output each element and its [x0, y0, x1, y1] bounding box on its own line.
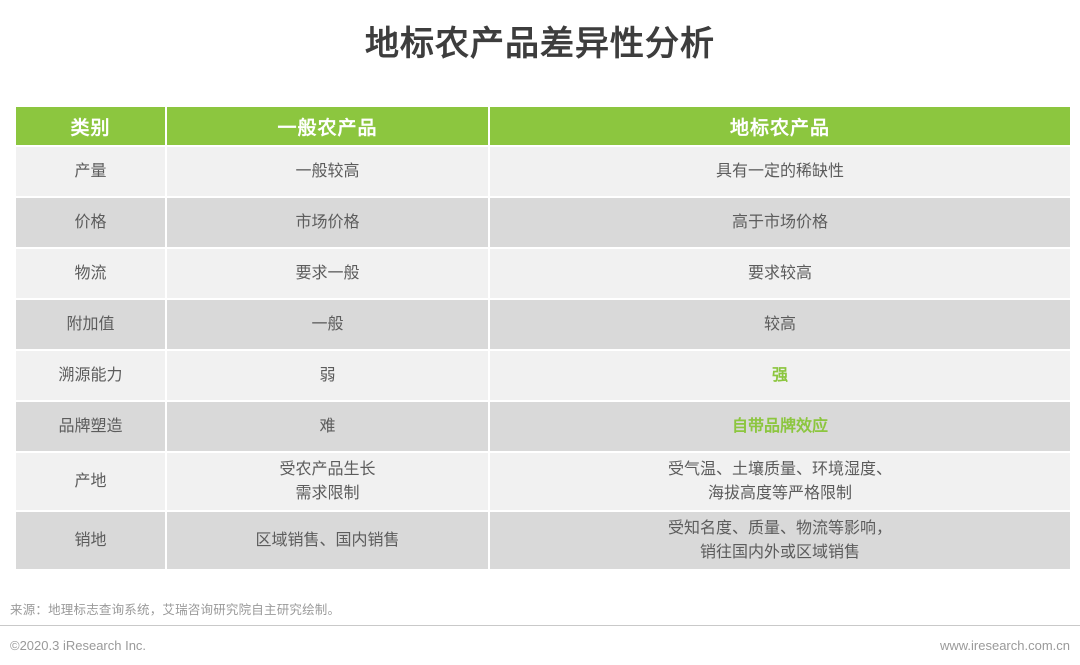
column-header-category: 类别	[16, 107, 165, 145]
table-row: 产地受农产品生长需求限制受气温、土壤质量、环境湿度、海拔高度等严格限制	[16, 453, 1070, 510]
footer-copyright: ©2020.3 iResearch Inc.	[10, 638, 146, 653]
cell-line: 销往国内外或区域销售	[496, 541, 1064, 565]
footer-url: www.iresearch.com.cn	[940, 638, 1070, 653]
table-row: 产量一般较高具有一定的稀缺性	[16, 147, 1070, 196]
cell-line: 要求较高	[496, 262, 1064, 286]
comparison-table: 类别 一般农产品 地标农产品 产量一般较高具有一定的稀缺性价格市场价格高于市场价…	[14, 105, 1072, 571]
cell-geo-product: 具有一定的稀缺性	[490, 147, 1070, 196]
cell-line: 自带品牌效应	[496, 415, 1064, 439]
column-header-general-product: 一般农产品	[167, 107, 488, 145]
cell-line: 市场价格	[173, 211, 482, 235]
cell-line: 需求限制	[173, 482, 482, 506]
cell-category: 品牌塑造	[16, 402, 165, 451]
table-header-row: 类别 一般农产品 地标农产品	[16, 107, 1070, 145]
cell-geo-product: 受知名度、质量、物流等影响，销往国内外或区域销售	[490, 512, 1070, 569]
cell-category: 产量	[16, 147, 165, 196]
cell-general-product: 弱	[167, 351, 488, 400]
cell-general-product: 受农产品生长需求限制	[167, 453, 488, 510]
table-row: 附加值一般较高	[16, 300, 1070, 349]
cell-line: 具有一定的稀缺性	[496, 160, 1064, 184]
table-header: 类别 一般农产品 地标农产品	[16, 107, 1070, 145]
cell-category: 溯源能力	[16, 351, 165, 400]
cell-line: 要求一般	[173, 262, 482, 286]
table-row: 价格市场价格高于市场价格	[16, 198, 1070, 247]
cell-category: 产地	[16, 453, 165, 510]
cell-category: 销地	[16, 512, 165, 569]
cell-general-product: 一般	[167, 300, 488, 349]
cell-geo-product: 自带品牌效应	[490, 402, 1070, 451]
cell-general-product: 要求一般	[167, 249, 488, 298]
cell-line: 高于市场价格	[496, 211, 1064, 235]
cell-line: 受知名度、质量、物流等影响，	[496, 517, 1064, 541]
page-title: 地标农产品差异性分析	[365, 27, 715, 61]
cell-category: 附加值	[16, 300, 165, 349]
source-note: 来源：地理标志查询系统，艾瑞咨询研究院自主研究绘制。	[10, 599, 340, 618]
title-bar: 地标农产品差异性分析	[0, 0, 1080, 88]
footer-bar: ©2020.3 iResearch Inc. www.iresearch.com…	[0, 626, 1080, 665]
cell-line: 强	[496, 364, 1064, 388]
cell-line: 难	[173, 415, 482, 439]
cell-general-product: 市场价格	[167, 198, 488, 247]
cell-category: 物流	[16, 249, 165, 298]
cell-line: 弱	[173, 364, 482, 388]
slide-root: 地标农产品差异性分析 类别 一般农产品 地标农产品 产量一般较高具有一定的稀缺性…	[0, 0, 1080, 665]
cell-line: 海拔高度等严格限制	[496, 482, 1064, 506]
cell-general-product: 一般较高	[167, 147, 488, 196]
table-row: 品牌塑造难自带品牌效应	[16, 402, 1070, 451]
table-row: 销地区域销售、国内销售受知名度、质量、物流等影响，销往国内外或区域销售	[16, 512, 1070, 569]
cell-geo-product: 受气温、土壤质量、环境湿度、海拔高度等严格限制	[490, 453, 1070, 510]
cell-geo-product: 高于市场价格	[490, 198, 1070, 247]
cell-general-product: 难	[167, 402, 488, 451]
cell-line: 一般较高	[173, 160, 482, 184]
cell-line: 区域销售、国内销售	[173, 529, 482, 553]
cell-line: 受农产品生长	[173, 458, 482, 482]
cell-general-product: 区域销售、国内销售	[167, 512, 488, 569]
table-body: 产量一般较高具有一定的稀缺性价格市场价格高于市场价格物流要求一般要求较高附加值一…	[16, 147, 1070, 569]
comparison-table-wrapper: 类别 一般农产品 地标农产品 产量一般较高具有一定的稀缺性价格市场价格高于市场价…	[14, 105, 1066, 571]
cell-line: 受气温、土壤质量、环境湿度、	[496, 458, 1064, 482]
cell-category: 价格	[16, 198, 165, 247]
cell-geo-product: 要求较高	[490, 249, 1070, 298]
cell-line: 较高	[496, 313, 1064, 337]
cell-line: 一般	[173, 313, 482, 337]
column-header-geo-product: 地标农产品	[490, 107, 1070, 145]
cell-geo-product: 较高	[490, 300, 1070, 349]
cell-geo-product: 强	[490, 351, 1070, 400]
table-row: 溯源能力弱强	[16, 351, 1070, 400]
table-row: 物流要求一般要求较高	[16, 249, 1070, 298]
